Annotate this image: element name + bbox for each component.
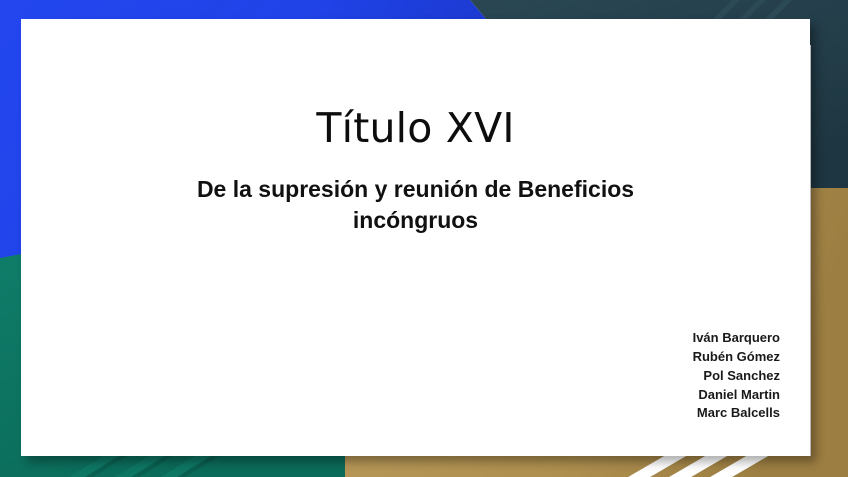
slide-content-card: Título XVI De la supresión y reunión de … [21,19,810,456]
title-block: Título XVI De la supresión y reunión de … [21,105,810,235]
author-name: Marc Balcells [480,404,780,423]
author-name: Daniel Martin [480,386,780,405]
title-slide: Título XVI De la supresión y reunión de … [0,0,848,477]
slide-subtitle: De la supresión y reunión de Beneficios … [156,174,676,235]
author-name: Iván Barquero [480,329,780,348]
author-name: Rubén Gómez [480,348,780,367]
page-title: Título XVI [21,105,810,152]
author-list: Iván Barquero Rubén Gómez Pol Sanchez Da… [480,329,780,423]
author-name: Pol Sanchez [480,367,780,386]
